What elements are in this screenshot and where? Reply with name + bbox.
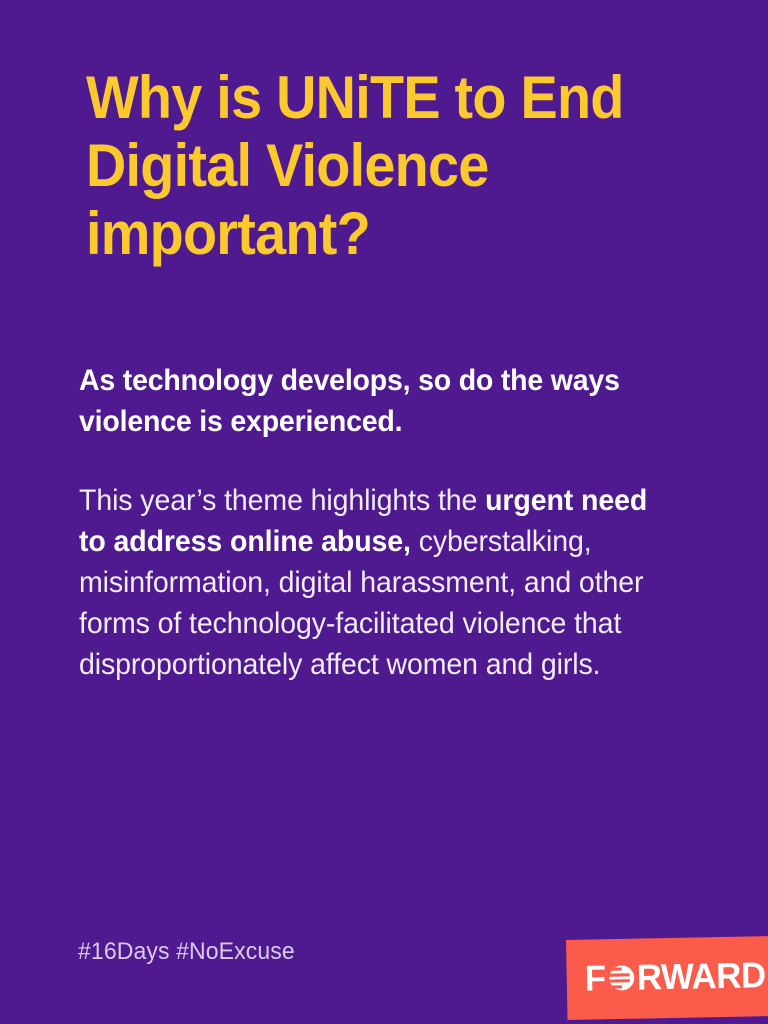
logo-letter-f: F (584, 959, 606, 997)
campaign-poster: Why is UNiTE to End Digital Violence imp… (0, 0, 768, 1024)
body-content: As technology develops, so do the ways v… (79, 360, 687, 685)
forward-globe-o-icon (607, 964, 636, 993)
hashtags: #16Days #NoExcuse (78, 938, 295, 966)
logo-letters-rward: RWARD (636, 956, 766, 996)
paragraph-text-before: This year’s theme highlights the (79, 484, 485, 517)
forward-logo-block: F RWARD FORWARD (566, 936, 768, 1020)
lead-paragraph: As technology develops, so do the ways v… (79, 360, 657, 442)
main-paragraph: This year’s theme highlights the urgent … (79, 480, 657, 685)
forward-wordmark: F RWARD FORWARD (584, 956, 768, 998)
page-title: Why is UNiTE to End Digital Violence imp… (86, 64, 644, 268)
